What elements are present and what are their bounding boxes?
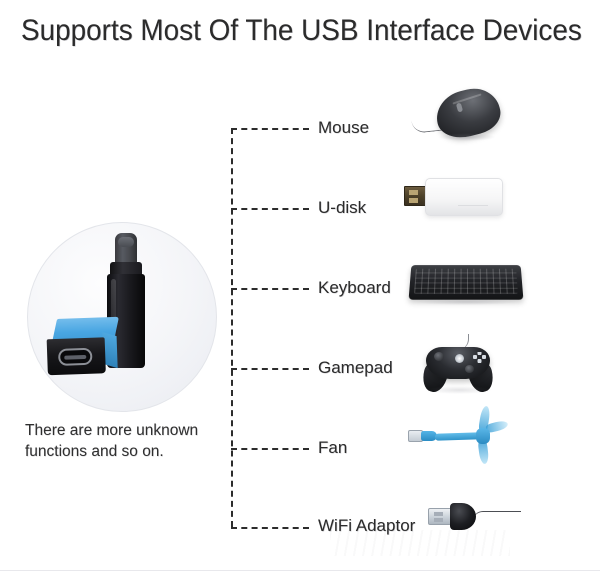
background-texture bbox=[330, 530, 510, 556]
wifi-adaptor-cable bbox=[473, 511, 521, 521]
device-label-keyboard: Keyboard bbox=[318, 278, 391, 298]
gamepad-shadow bbox=[426, 386, 492, 394]
gamepad-face-buttons bbox=[473, 352, 486, 363]
mouse-icon bbox=[412, 86, 508, 146]
branch-line-fan bbox=[231, 448, 309, 450]
device-label-gamepad: Gamepad bbox=[318, 358, 393, 378]
gamepad-guide-button bbox=[455, 354, 464, 363]
keyboard-shadow bbox=[416, 299, 516, 305]
bracket-spine bbox=[231, 128, 233, 527]
usb-adapter-infographic: Supports Most Of The USB Interface Devic… bbox=[0, 0, 600, 571]
usb-a-connector bbox=[404, 186, 427, 206]
mouse-shadow bbox=[438, 133, 496, 141]
branch-line-udisk bbox=[231, 208, 309, 210]
gamepad-left-stick bbox=[434, 352, 444, 361]
photo-caption: There are more unknown functions and so … bbox=[25, 420, 230, 462]
keyboard-keys bbox=[414, 269, 518, 294]
usb-c-otg-adapter-blue bbox=[46, 317, 122, 382]
device-label-mouse: Mouse bbox=[318, 118, 369, 138]
gamepad-right-stick bbox=[465, 365, 474, 373]
flash-drive-detail bbox=[458, 205, 488, 206]
gamepad-icon bbox=[414, 334, 506, 396]
branch-line-gamepad bbox=[231, 368, 309, 370]
wifi-adaptor-body bbox=[450, 503, 476, 530]
usb-fan-icon bbox=[408, 404, 512, 466]
flash-drive-body bbox=[425, 178, 503, 216]
branch-line-wifi-adaptor bbox=[231, 527, 309, 529]
page-title: Supports Most Of The USB Interface Devic… bbox=[21, 14, 579, 48]
usb-c-port bbox=[58, 348, 93, 366]
branch-line-mouse bbox=[231, 128, 309, 130]
device-label-udisk: U-disk bbox=[318, 198, 366, 218]
branch-line-keyboard bbox=[231, 288, 309, 290]
fan-hub bbox=[476, 428, 490, 444]
device-label-fan: Fan bbox=[318, 438, 347, 458]
usb-flash-drive-icon bbox=[404, 176, 510, 224]
keyboard-icon bbox=[410, 262, 522, 306]
fan-flexible-stem bbox=[435, 432, 481, 441]
